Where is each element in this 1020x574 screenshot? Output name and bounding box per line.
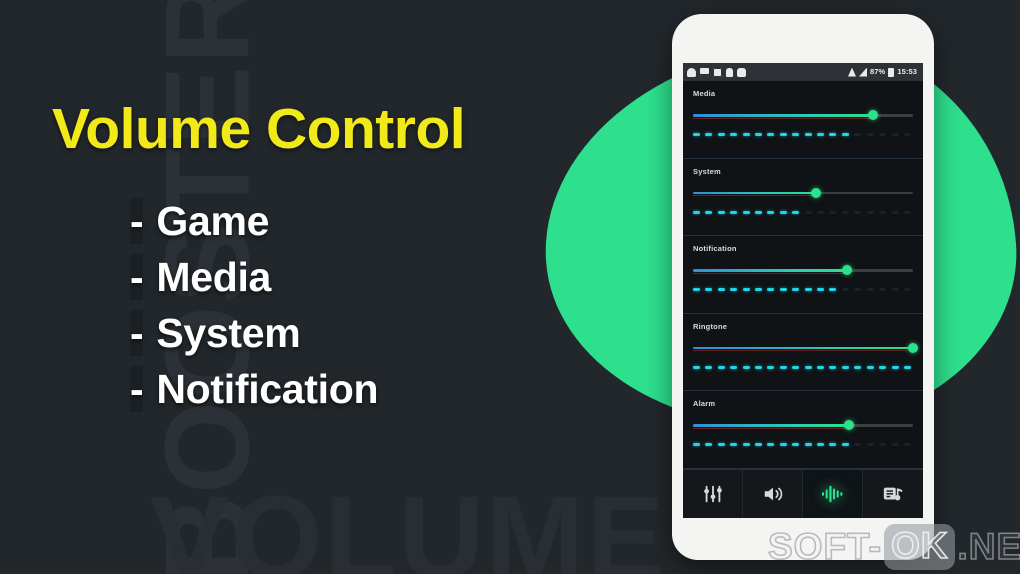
nav-button-speaker[interactable] xyxy=(743,470,803,518)
step-dash xyxy=(705,443,712,446)
step-dash xyxy=(805,133,812,136)
bullet-dash: - xyxy=(130,366,143,412)
nav-button-waveform[interactable] xyxy=(803,470,863,518)
step-dash xyxy=(829,366,836,369)
step-dash xyxy=(829,288,836,291)
step-dash xyxy=(904,366,911,369)
battery-percent-label: 87% xyxy=(870,68,885,76)
volume-slider-list: MediaSystemNotificationRingtoneAlarm xyxy=(683,81,923,487)
feature-list-item: -Game xyxy=(130,193,378,249)
status-bar: 87% 15:53 xyxy=(683,63,923,81)
step-dash xyxy=(792,443,799,446)
step-dash xyxy=(904,288,911,291)
step-dash xyxy=(854,288,861,291)
step-dash xyxy=(867,443,874,446)
bag-icon xyxy=(737,68,746,77)
step-dash xyxy=(693,443,700,446)
step-dash xyxy=(829,133,836,136)
step-dash xyxy=(867,133,874,136)
step-dash xyxy=(705,366,712,369)
step-dash xyxy=(792,133,799,136)
slider-step-indicator xyxy=(693,288,913,291)
step-dash xyxy=(842,133,849,136)
slider-track-area[interactable] xyxy=(693,419,913,431)
step-dash xyxy=(829,211,836,214)
page-title: Volume Control xyxy=(52,96,465,162)
slider-step-indicator xyxy=(693,133,913,136)
slider-fill xyxy=(693,114,873,117)
slider-thumb[interactable] xyxy=(842,265,852,275)
step-dash xyxy=(879,366,886,369)
step-dash xyxy=(867,211,874,214)
signal-icon xyxy=(848,68,856,77)
slider-thumb[interactable] xyxy=(811,188,821,198)
background-ghost-text-volume: VOLUME xyxy=(150,470,667,574)
step-dash xyxy=(693,211,700,214)
volume-slider-row[interactable]: System xyxy=(683,159,923,237)
step-dash xyxy=(730,133,737,136)
slider-fill xyxy=(693,347,913,350)
feature-list-item: -Media xyxy=(130,249,378,305)
nav-button-equalizer[interactable] xyxy=(683,470,743,518)
step-dash xyxy=(693,133,700,136)
step-dash xyxy=(755,288,762,291)
step-dash xyxy=(854,366,861,369)
step-dash xyxy=(767,133,774,136)
phone-screen: 87% 15:53 MediaSystemNotificationRington… xyxy=(683,63,923,518)
step-dash xyxy=(730,211,737,214)
feature-label: Notification xyxy=(156,366,378,412)
watermark-prefix: SOFT- xyxy=(768,526,882,568)
step-dash xyxy=(730,366,737,369)
feature-list: -Game-Media-System-Notification xyxy=(130,193,378,418)
slider-label: Ringtone xyxy=(693,322,913,331)
sd-card-icon xyxy=(700,68,709,77)
volume-slider-row[interactable]: Ringtone xyxy=(683,314,923,392)
feature-label: Media xyxy=(156,254,271,300)
step-dash xyxy=(767,211,774,214)
step-dash xyxy=(879,211,886,214)
volume-slider-row[interactable]: Notification xyxy=(683,236,923,314)
step-dash xyxy=(879,443,886,446)
slider-step-indicator xyxy=(693,211,913,214)
slider-thumb[interactable] xyxy=(908,343,918,353)
step-dash xyxy=(755,443,762,446)
step-dash xyxy=(780,133,787,136)
phone-mockup: 87% 15:53 MediaSystemNotificationRington… xyxy=(672,14,934,560)
feature-label: Game xyxy=(156,198,269,244)
step-dash xyxy=(817,288,824,291)
slider-underline xyxy=(693,428,849,429)
step-dash xyxy=(792,366,799,369)
step-dash xyxy=(854,211,861,214)
step-dash xyxy=(755,366,762,369)
step-dash xyxy=(892,288,899,291)
feature-list-item: -Notification xyxy=(130,361,378,417)
step-dash xyxy=(755,211,762,214)
step-dash xyxy=(842,366,849,369)
step-dash xyxy=(730,443,737,446)
step-dash xyxy=(892,211,899,214)
step-dash xyxy=(842,288,849,291)
step-dash xyxy=(705,133,712,136)
slider-step-indicator xyxy=(693,443,913,446)
step-dash xyxy=(867,366,874,369)
step-dash xyxy=(780,211,787,214)
slider-underline xyxy=(693,195,816,196)
bullet-dash: - xyxy=(130,254,143,300)
step-dash xyxy=(718,288,725,291)
step-dash xyxy=(718,366,725,369)
step-dash xyxy=(817,133,824,136)
step-dash xyxy=(693,288,700,291)
slider-fill xyxy=(693,269,847,272)
volume-slider-row[interactable]: Media xyxy=(683,81,923,159)
step-dash xyxy=(767,366,774,369)
slider-underline xyxy=(693,350,913,351)
step-dash xyxy=(817,443,824,446)
slider-label: System xyxy=(693,167,913,176)
slider-underline xyxy=(693,273,847,274)
step-dash xyxy=(780,288,787,291)
step-dash xyxy=(743,211,750,214)
slider-thumb[interactable] xyxy=(844,420,854,430)
slider-underline xyxy=(693,118,873,119)
slider-label: Notification xyxy=(693,244,913,253)
step-dash xyxy=(730,288,737,291)
step-dash xyxy=(892,133,899,136)
status-clock: 15:53 xyxy=(897,68,917,76)
step-dash xyxy=(743,366,750,369)
step-dash xyxy=(879,133,886,136)
step-dash xyxy=(792,211,799,214)
step-dash xyxy=(743,288,750,291)
slider-thumb[interactable] xyxy=(868,110,878,120)
usb-icon xyxy=(726,68,733,77)
step-dash xyxy=(842,443,849,446)
step-dash xyxy=(743,443,750,446)
step-dash xyxy=(792,288,799,291)
step-dash xyxy=(805,443,812,446)
slider-fill xyxy=(693,192,816,195)
step-dash xyxy=(767,443,774,446)
slider-label: Alarm xyxy=(693,399,913,408)
step-dash xyxy=(904,443,911,446)
site-watermark: SOFT- OK .NET xyxy=(768,524,1020,570)
step-dash xyxy=(718,211,725,214)
grid-icon xyxy=(713,68,722,77)
slider-fill xyxy=(693,424,849,427)
step-dash xyxy=(780,443,787,446)
watermark-badge: OK xyxy=(884,524,956,570)
slider-track-area[interactable] xyxy=(693,264,913,276)
step-dash xyxy=(854,133,861,136)
step-dash xyxy=(755,133,762,136)
step-dash xyxy=(879,288,886,291)
step-dash xyxy=(743,133,750,136)
step-dash xyxy=(892,366,899,369)
waveform-icon xyxy=(821,483,845,505)
speaker-icon xyxy=(762,483,784,505)
feature-list-item: -System xyxy=(130,305,378,361)
bullet-dash: - xyxy=(130,198,143,244)
step-dash xyxy=(693,366,700,369)
step-dash xyxy=(805,288,812,291)
step-dash xyxy=(718,443,725,446)
step-dash xyxy=(904,211,911,214)
step-dash xyxy=(705,211,712,214)
volume-slider-row[interactable]: Alarm xyxy=(683,391,923,469)
slider-track-area[interactable] xyxy=(693,187,913,199)
equalizer-icon xyxy=(702,483,724,505)
signal-off-icon xyxy=(859,68,867,77)
nav-button-music-file[interactable] xyxy=(863,470,923,518)
step-dash xyxy=(767,288,774,291)
bullet-dash: - xyxy=(130,310,143,356)
bottom-navigation-bar xyxy=(683,469,923,518)
step-dash xyxy=(892,443,899,446)
step-dash xyxy=(867,288,874,291)
step-dash xyxy=(904,133,911,136)
step-dash xyxy=(817,366,824,369)
slider-track-area[interactable] xyxy=(693,342,913,354)
step-dash xyxy=(805,366,812,369)
step-dash xyxy=(805,211,812,214)
slider-label: Media xyxy=(693,89,913,98)
feature-label: System xyxy=(156,310,300,356)
step-dash xyxy=(829,443,836,446)
promo-banner: BOOSTER VOLUME Volume Control -Game-Medi… xyxy=(0,0,1020,574)
step-dash xyxy=(854,443,861,446)
cloud-icon xyxy=(687,68,696,77)
step-dash xyxy=(842,211,849,214)
slider-track-area[interactable] xyxy=(693,109,913,121)
battery-icon xyxy=(888,68,894,77)
step-dash xyxy=(817,211,824,214)
music-file-icon xyxy=(882,483,904,505)
watermark-suffix: .NET xyxy=(957,526,1020,568)
step-dash xyxy=(718,133,725,136)
step-dash xyxy=(705,288,712,291)
step-dash xyxy=(780,366,787,369)
slider-step-indicator xyxy=(693,366,913,369)
